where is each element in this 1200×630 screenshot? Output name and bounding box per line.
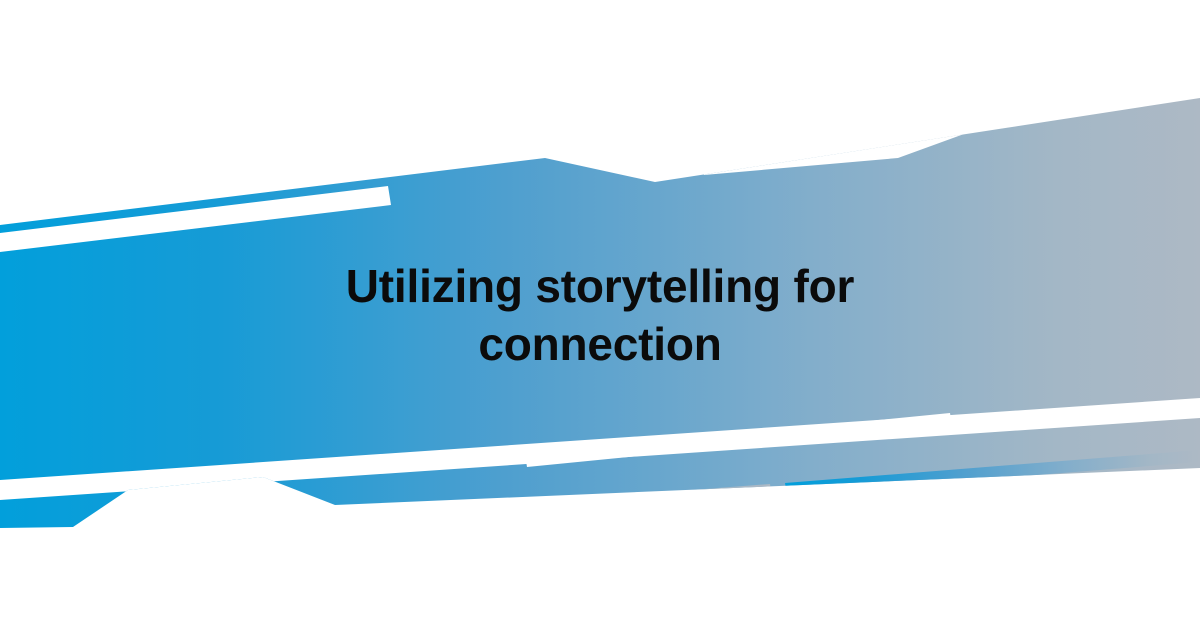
banner-canvas: Utilizing storytelling for connection xyxy=(0,0,1200,630)
slash-dash-2 xyxy=(720,143,736,160)
banner-artwork xyxy=(0,0,1200,630)
banner-main-shape xyxy=(0,98,1200,528)
slash-dash-3 xyxy=(744,136,795,158)
slash-dash-1 xyxy=(700,145,714,161)
